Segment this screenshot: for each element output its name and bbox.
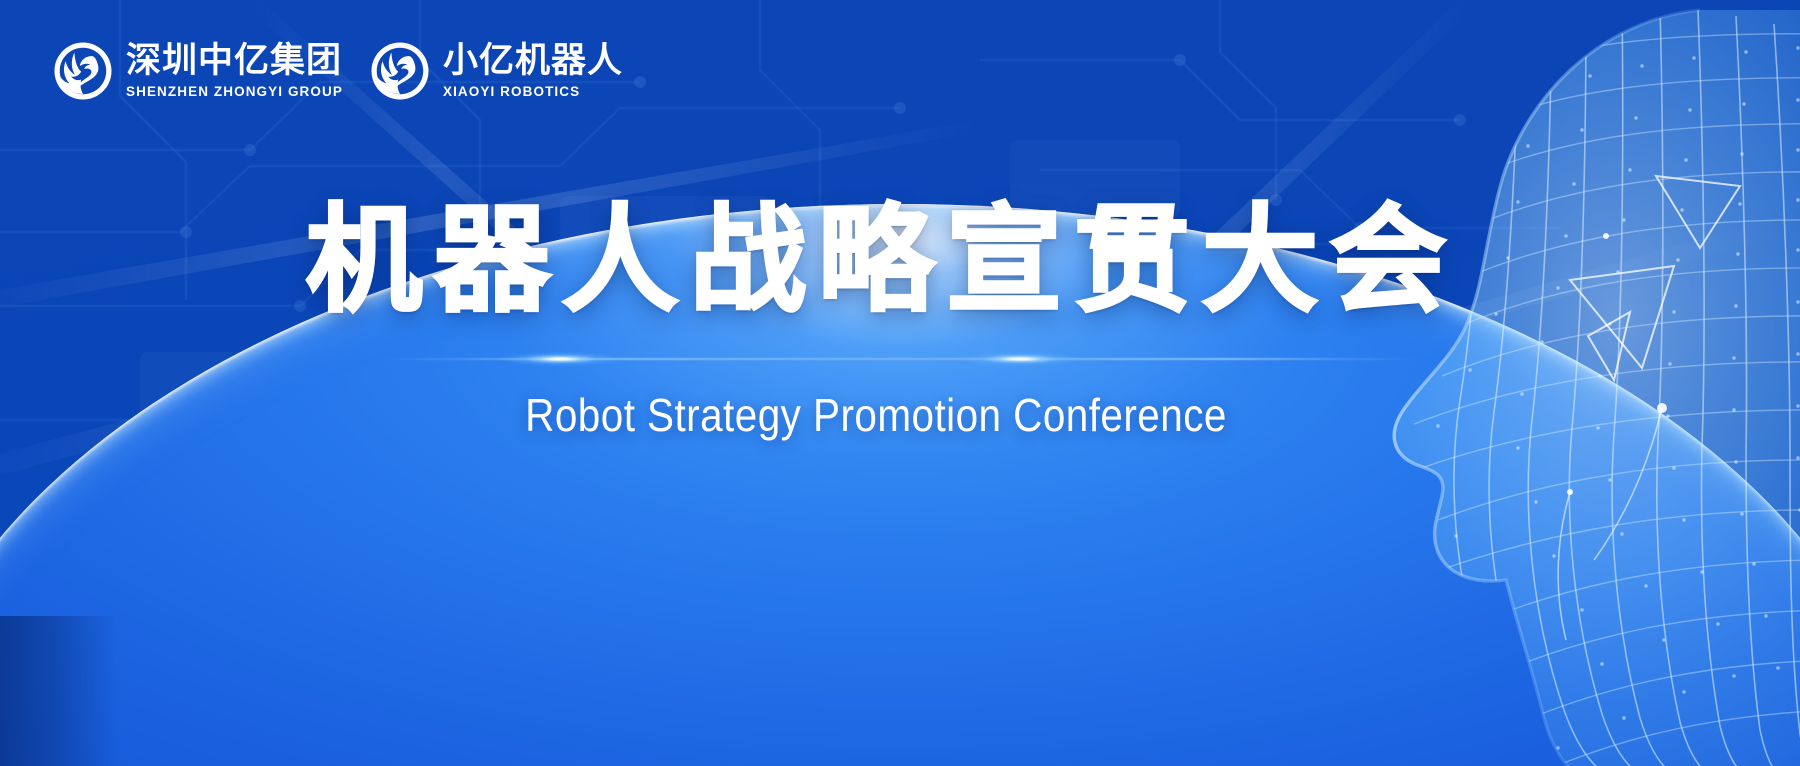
xiaoyi-swirl-logo-icon xyxy=(369,40,431,102)
logo-xiaoyi-en: XIAOYI ROBOTICS xyxy=(443,85,623,99)
title-block: 机器人战略宣贯大会 Robot Strategy Promotion Confe… xyxy=(0,196,1800,442)
left-edge-shade xyxy=(0,616,118,766)
page-title: 机器人战略宣贯大会 xyxy=(0,196,1800,326)
logo-zhongyi-en: SHENZHEN ZHONGYI GROUP xyxy=(126,85,343,99)
logo-xiaoyi[interactable]: 小亿机器人 XIAOYI ROBOTICS xyxy=(369,40,623,102)
logo-xiaoyi-text: 小亿机器人 XIAOYI ROBOTICS xyxy=(443,44,623,99)
logo-xiaoyi-cn: 小亿机器人 xyxy=(443,44,623,79)
light-flare-node-right-icon xyxy=(945,350,1095,368)
page-subtitle: Robot Strategy Promotion Conference xyxy=(63,388,1689,442)
logo-zhongyi[interactable]: 深圳中亿集团 SHENZHEN ZHONGYI GROUP xyxy=(52,40,343,102)
logo-zhongyi-cn: 深圳中亿集团 xyxy=(126,44,343,79)
light-flare-node-left-icon xyxy=(485,350,635,368)
title-divider xyxy=(0,346,1800,372)
zhongyi-swirl-logo-icon xyxy=(52,40,114,102)
conference-banner: 深圳中亿集团 SHENZHEN ZHONGYI GROUP 小亿机器人 XIAO… xyxy=(0,0,1800,766)
logo-group: 深圳中亿集团 SHENZHEN ZHONGYI GROUP 小亿机器人 XIAO… xyxy=(52,40,623,102)
logo-zhongyi-text: 深圳中亿集团 SHENZHEN ZHONGYI GROUP xyxy=(126,44,343,99)
